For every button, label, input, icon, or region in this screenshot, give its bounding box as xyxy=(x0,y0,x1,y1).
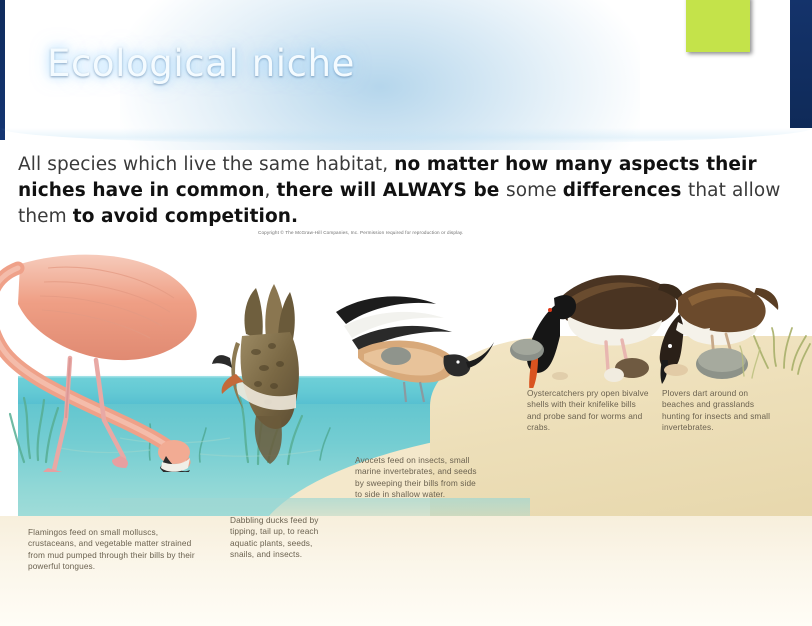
body-seg-2: , xyxy=(265,180,277,201)
caption-flamingo: Flamingos feed on small molluscs, crusta… xyxy=(28,527,200,573)
body-seg-5: differences xyxy=(563,180,688,201)
slide-body-text: All species which live the same habitat,… xyxy=(18,152,794,230)
banner-right-edge xyxy=(790,0,812,128)
avocet-illustration xyxy=(328,290,498,420)
caption-oystercatcher: Oystercatchers pry open bivalve shells w… xyxy=(527,388,649,434)
body-seg-4: some xyxy=(506,180,563,201)
shorebird-niche-figure: Flamingos feed on small molluscs, crusta… xyxy=(0,248,812,626)
body-seg-3: there will ALWAYS be xyxy=(276,180,506,201)
presentation-slide: Ecological niche All species which live … xyxy=(0,0,812,626)
page-title: Ecological niche xyxy=(47,42,355,85)
green-accent-tab xyxy=(686,0,750,52)
slide-header-banner: Ecological niche xyxy=(0,0,812,150)
flamingo-illustration xyxy=(0,248,238,472)
body-seg-7: to avoid competition. xyxy=(73,206,298,227)
copyright-notice: Copyright © The McGraw-Hill Companies, I… xyxy=(258,230,558,236)
caption-plover: Plovers dart around on beaches and grass… xyxy=(662,388,782,434)
plover-illustration xyxy=(648,270,788,390)
caption-avocet: Avocets feed on insects, small marine in… xyxy=(355,455,485,501)
dabbling-duck-illustration xyxy=(212,282,342,482)
body-seg-0: All species which live the same habitat, xyxy=(18,154,394,175)
banner-left-edge xyxy=(0,0,5,140)
caption-dabbling-duck: Dabbling ducks feed by tipping, tail up,… xyxy=(230,515,334,561)
